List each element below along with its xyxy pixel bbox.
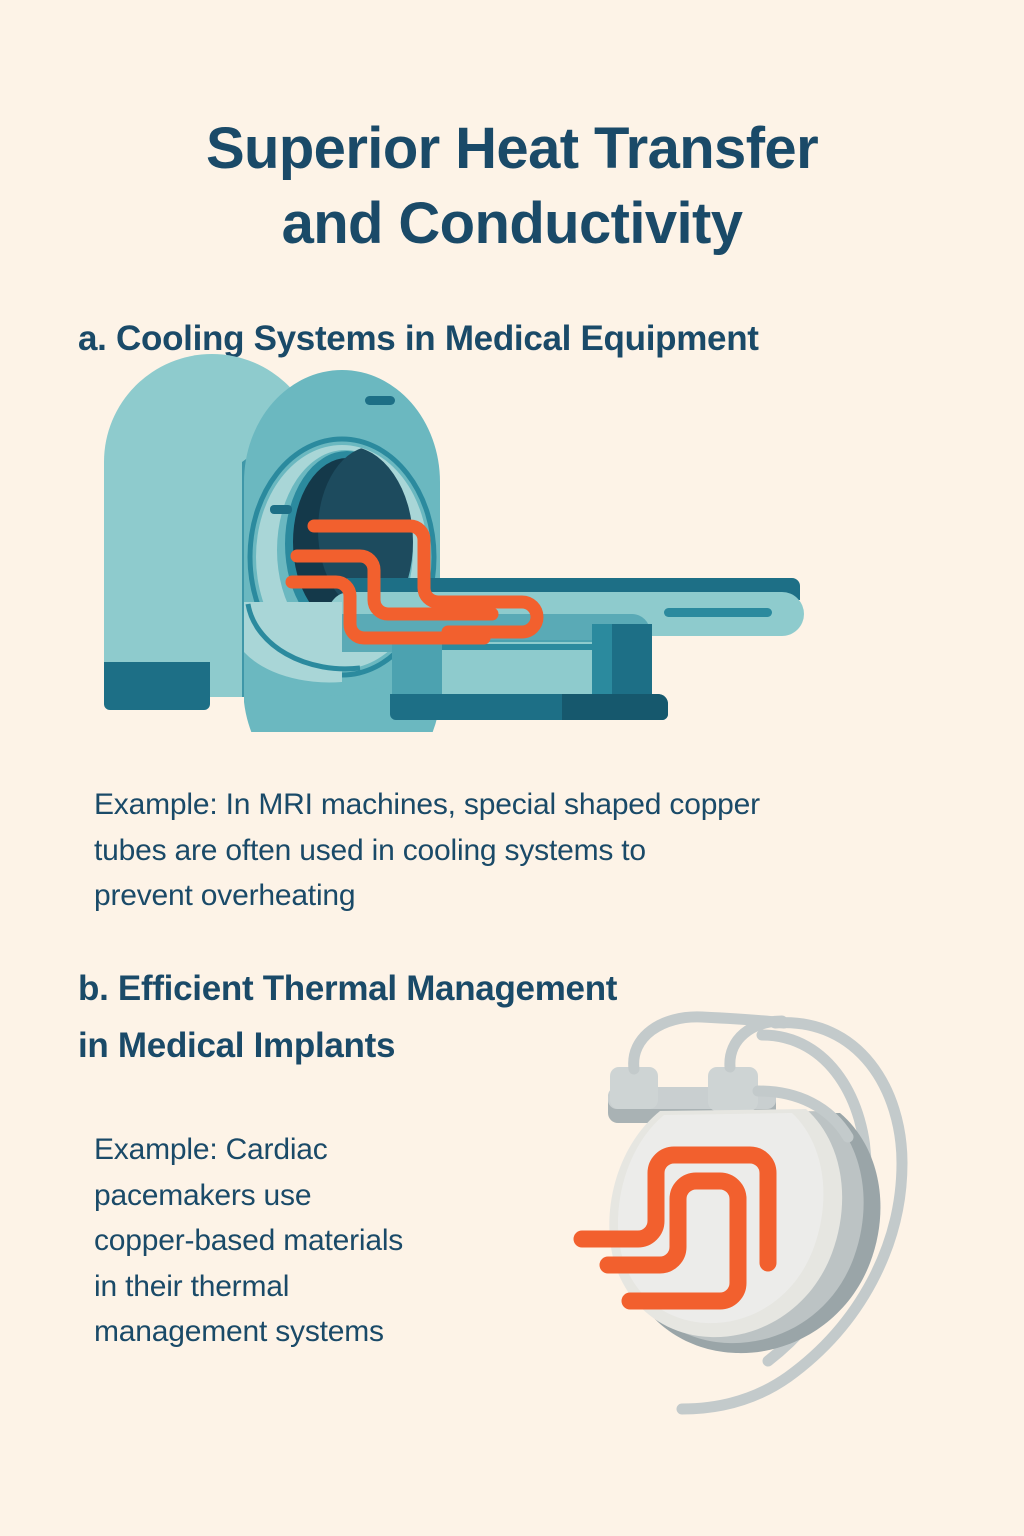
section-b-body: Example: Cardiac pacemakers use copper-b…	[94, 1127, 524, 1355]
section-b-body-line-2: pacemakers use	[94, 1173, 524, 1219]
section-b-body-line-3: copper-based materials	[94, 1218, 524, 1264]
infographic-page: Superior Heat Transfer and Conductivity …	[0, 0, 1024, 1536]
mri-status-light-side	[270, 505, 292, 514]
page-title-line-1: Superior Heat Transfer	[62, 111, 962, 186]
section-b-body-line-5: management systems	[94, 1309, 524, 1355]
section-a-body-line-1: Example: In MRI machines, special shaped…	[94, 782, 974, 828]
section-a-body-line-2: tubes are often used in cooling systems …	[94, 828, 974, 874]
section-a-body: Example: In MRI machines, special shaped…	[94, 782, 974, 919]
mri-machine-illustration	[92, 352, 842, 732]
section-b-body-line-1: Example: Cardiac	[94, 1127, 524, 1173]
section-a-body-line-3: prevent overheating	[94, 873, 974, 919]
page-title: Superior Heat Transfer and Conductivity	[62, 111, 962, 262]
page-title-line-2: and Conductivity	[62, 186, 962, 261]
section-b-body-line-4: in their thermal	[94, 1264, 524, 1310]
pacemaker-illustration	[530, 995, 950, 1415]
mri-patient-table	[328, 578, 804, 720]
mri-status-light-top	[365, 396, 395, 405]
